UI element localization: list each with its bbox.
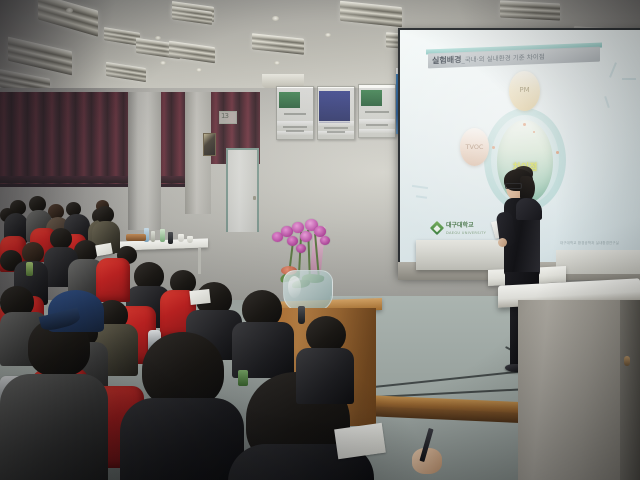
lectern-side-panel <box>620 300 640 480</box>
table-leg <box>198 248 201 274</box>
presenter-shoulder <box>516 198 542 220</box>
ceiling-downlight <box>274 61 280 65</box>
audience-notepad <box>189 289 210 305</box>
presenter-hand <box>498 238 507 247</box>
lectern-latch[interactable] <box>624 356 630 366</box>
ceiling-downlight <box>155 36 161 40</box>
orchid-bloom <box>300 231 312 242</box>
audience-head <box>22 242 44 263</box>
water-bottle <box>160 229 165 242</box>
ceiling-downlight <box>272 16 279 21</box>
presenter-glasses <box>505 183 522 189</box>
ceiling-shadow-left <box>0 0 120 92</box>
ceiling-downlight <box>196 68 202 72</box>
water-bottle <box>151 231 155 242</box>
audience-head <box>50 228 72 249</box>
ceiling-downlight <box>160 61 166 65</box>
paper-cup <box>178 234 184 242</box>
orchid-bloom <box>296 244 306 253</box>
ceiling-downlight <box>325 33 331 37</box>
lecture-hall-photo: 13 대구 대 제6회 2009. 11. <box>0 0 640 480</box>
beverage-bottle <box>168 232 173 244</box>
vase-highlight <box>288 276 301 298</box>
auditorium-seat <box>96 258 130 302</box>
foreground-shadow <box>0 330 430 480</box>
snack-tray <box>126 234 146 241</box>
paper-cup <box>187 236 193 243</box>
orchid-bloom <box>320 236 330 245</box>
stage-ledge-right <box>556 250 640 274</box>
podium-bottle <box>298 306 305 324</box>
beverage-can <box>26 262 33 276</box>
